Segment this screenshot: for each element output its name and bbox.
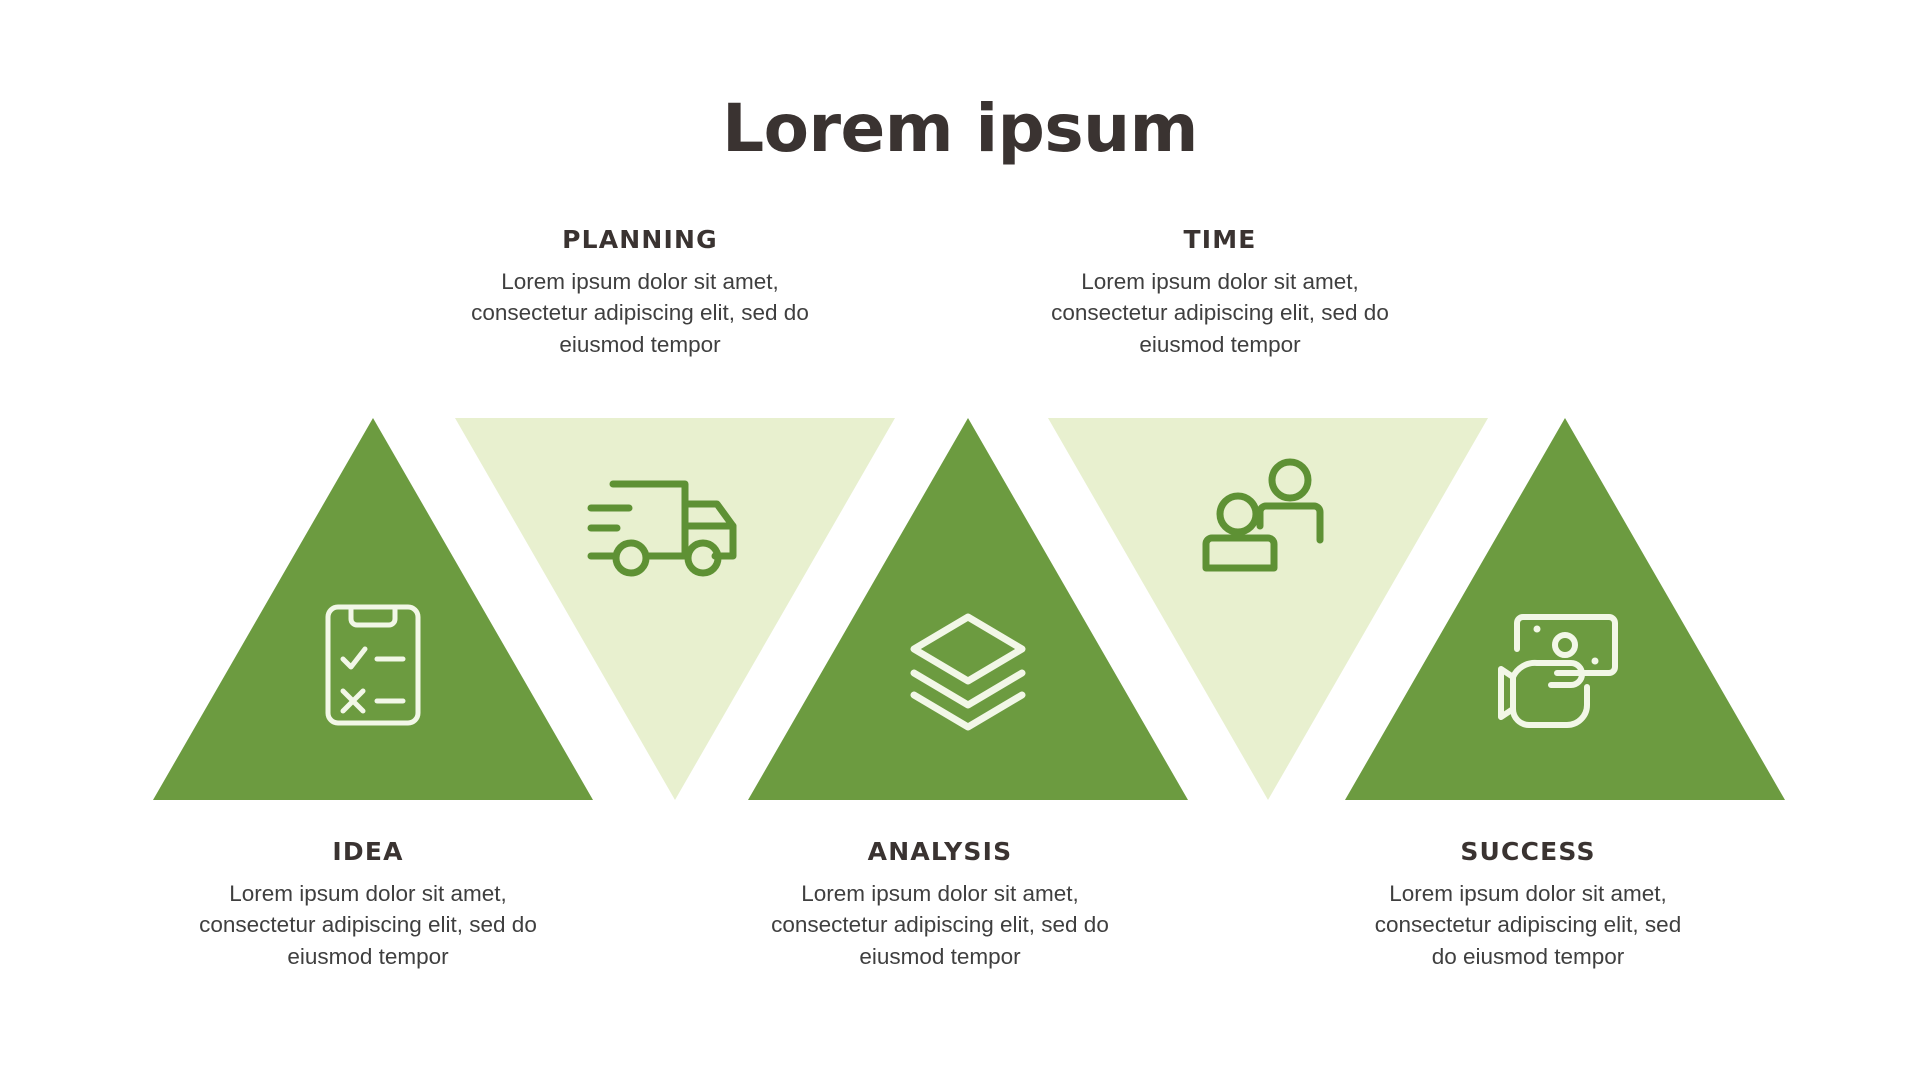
slide-canvas: Lorem ipsum — [0, 0, 1920, 1080]
caption-analysis: ANALYSIS Lorem ipsum dolor sit amet, con… — [750, 838, 1130, 973]
step-label-idea: IDEA — [178, 838, 558, 866]
caption-time: TIME Lorem ipsum dolor sit amet, consect… — [1035, 226, 1405, 361]
caption-success: SUCCESS Lorem ipsum dolor sit amet, cons… — [1368, 838, 1688, 973]
step-body-analysis: Lorem ipsum dolor sit amet, consectetur … — [750, 878, 1130, 974]
step-body-planning: Lorem ipsum dolor sit amet, consectetur … — [455, 266, 825, 362]
caption-idea: IDEA Lorem ipsum dolor sit amet, consect… — [178, 838, 558, 973]
step-label-time: TIME — [1035, 226, 1405, 254]
step-label-analysis: ANALYSIS — [750, 838, 1130, 866]
caption-planning: PLANNING Lorem ipsum dolor sit amet, con… — [455, 226, 825, 361]
step-body-time: Lorem ipsum dolor sit amet, consectetur … — [1035, 266, 1405, 362]
step-body-idea: Lorem ipsum dolor sit amet, consectetur … — [178, 878, 558, 974]
page-title: Lorem ipsum — [0, 96, 1920, 162]
step-body-success: Lorem ipsum dolor sit amet, consectetur … — [1368, 878, 1688, 974]
step-label-success: SUCCESS — [1368, 838, 1688, 866]
step-label-planning: PLANNING — [455, 226, 825, 254]
